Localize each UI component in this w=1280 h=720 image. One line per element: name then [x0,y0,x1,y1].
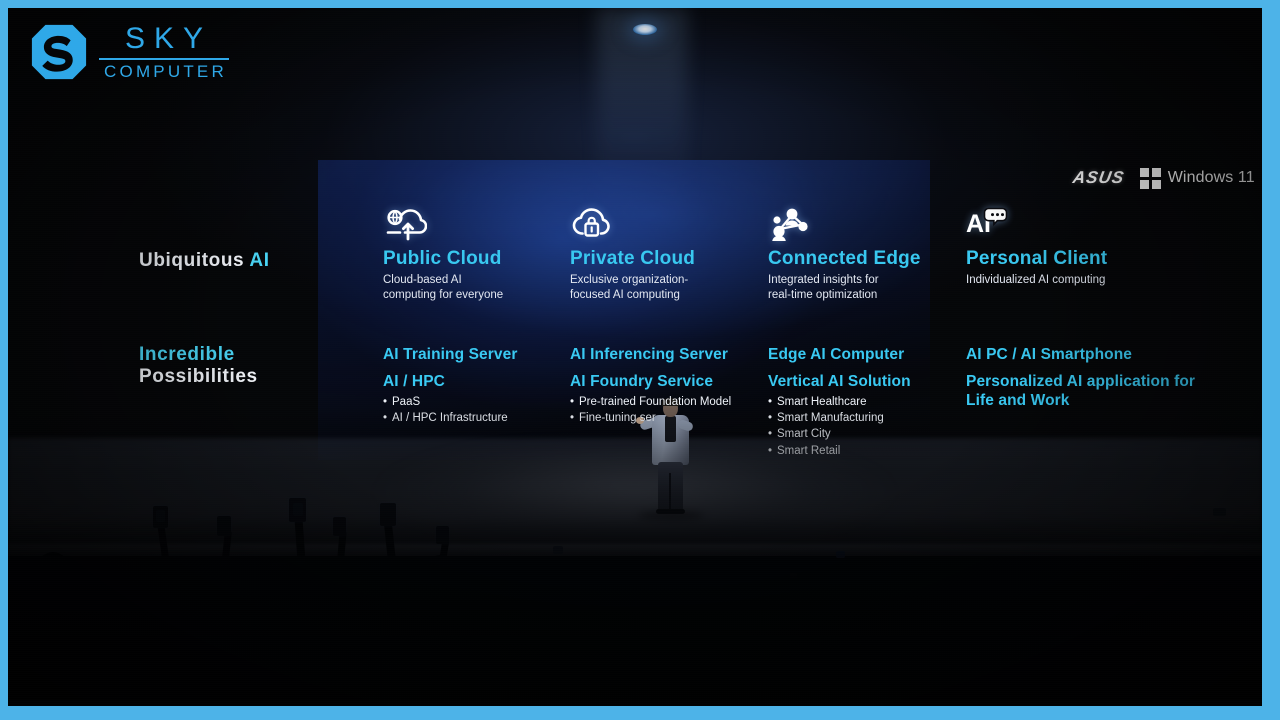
column-lower-block: AI Inferencing Server AI Foundry Service… [570,346,756,426]
audience-shoulders [166,594,244,654]
bullet-item: Fine-tuning ser [570,410,756,426]
column-product-2: AI / HPC [383,373,569,392]
slide-column-private-cloud: Private Cloud Exclusive organization- fo… [570,206,756,304]
audience-phone [333,517,346,536]
column-lower-block: AI PC / AI Smartphone Personalized AI ap… [966,346,1196,411]
cloud-globe-upload-icon [383,206,569,244]
cloud-lock-icon [570,206,756,244]
slide-column-connected-edge: Connected Edge Integrated insights for r… [768,206,954,304]
column-bullet-list: Pre-trained Foundation Model Fine-tuning… [570,394,756,427]
row-label-incredible-possibilities: Incredible Possibilities [139,344,258,389]
audience-shoulders [560,596,638,656]
slide-column-public-cloud: Public Cloud Cloud-based AI computing fo… [383,206,569,304]
distant-phone-screen [553,546,563,554]
audience-shoulders [240,590,320,652]
column-product-1: AI PC / AI Smartphone [966,346,1196,365]
windows-label: Windows 11 [1168,169,1255,187]
watermark-text: SKY COMPUTER [99,24,229,80]
column-subtitle: Integrated insights for real-time optimi… [768,273,954,304]
watermark-secondary: COMPUTER [101,63,227,80]
audience-shoulders [88,588,170,650]
column-title: Private Cloud [570,248,756,270]
phone-screen [293,503,303,516]
windows-pane [1152,168,1161,177]
row-label-ubiquitous-ai: Ubiquitous AI [139,250,270,272]
sky-hexagon-s-logo [28,22,90,82]
bordered-video-frame: Ubiquitous AI Incredible Possibilities [0,0,1280,720]
distant-phone-screen [790,573,797,584]
windows-pane [1140,180,1149,189]
audience-phone [380,503,396,526]
distant-phone-screen [836,551,845,558]
column-product-1: AI Inferencing Server [570,346,756,365]
keynote-stage-photo: Ubiquitous AI Incredible Possibilities [8,8,1262,706]
windows-pane [1140,168,1149,177]
row-label-cyan-line: Incredible [139,344,258,366]
column-title: Public Cloud [383,248,569,270]
column-product-1: Edge AI Computer [768,346,954,365]
bullet-item: AI / HPC Infrastructure [383,410,569,426]
row-label-white-line: Possibilities [139,366,258,388]
phone-screen [156,510,165,522]
audience-head [582,566,612,600]
bullet-item: PaaS [383,394,569,410]
audience-silhouettes [8,446,1262,706]
audience-shoulders [760,596,842,656]
column-subtitle: Individualized AI computing [966,273,1196,289]
audience-shoulders [922,598,1002,658]
audience-phone [217,516,231,536]
brand-logo-bar: ASUS Windows 11 [1073,168,1255,189]
asus-logo-icon: ASUS [1071,168,1126,188]
watermark-divider [99,58,229,60]
audience-shoulders [1080,600,1160,660]
distant-phone-screen [1213,508,1226,516]
bullet-item: Smart Healthcare [768,394,954,410]
bullet-item: Pre-trained Foundation Model [570,394,756,410]
audience-head [1024,566,1054,600]
bullet-item: Smart Manufacturing [768,410,954,426]
audience-shoulders [486,600,562,658]
column-product-2: Vertical AI Solution [768,373,954,392]
windows-pane [1152,180,1161,189]
audience-shoulders [398,586,484,650]
bullet-item: Smart City [768,426,954,442]
audience-shoulders [318,596,398,656]
windows-brand-group: Windows 11 [1140,168,1254,189]
watermark-primary: SKY [116,24,212,54]
column-product-1: AI Training Server [383,346,569,365]
column-product-2: Personalized AI application for Life and… [966,373,1196,411]
slide-column-personal-client: AI Personal Client Individualized AI com… [966,206,1196,288]
ai-speech-bubble-icon: AI [966,206,1196,244]
column-title: Personal Client [966,248,1196,270]
audience-phone [436,526,449,544]
row-label-white-part: Ubiquitous [139,250,249,271]
sky-computer-watermark: SKY COMPUTER [28,22,229,82]
audience-shoulders [1160,592,1244,654]
column-subtitle: Cloud-based AI computing for everyone [383,273,569,304]
column-lower-block: AI Training Server AI / HPC PaaS AI / HP… [383,346,569,426]
audience-shoulders [686,602,764,660]
column-bullet-list: PaaS AI / HPC Infrastructure [383,394,569,427]
column-lower-block: Edge AI Computer Vertical AI Solution Sm… [768,346,954,459]
audience-shoulders [838,590,924,652]
column-title: Connected Edge [768,248,954,270]
column-subtitle: Exclusive organization- focused AI compu… [570,273,756,304]
audience-shoulders [12,582,96,646]
row-label-cyan-part: AI [249,250,269,271]
windows-logo-icon [1140,168,1161,189]
audience-shoulders [1002,596,1080,656]
network-nodes-people-icon [768,206,954,244]
column-product-2: AI Foundry Service [570,373,756,392]
